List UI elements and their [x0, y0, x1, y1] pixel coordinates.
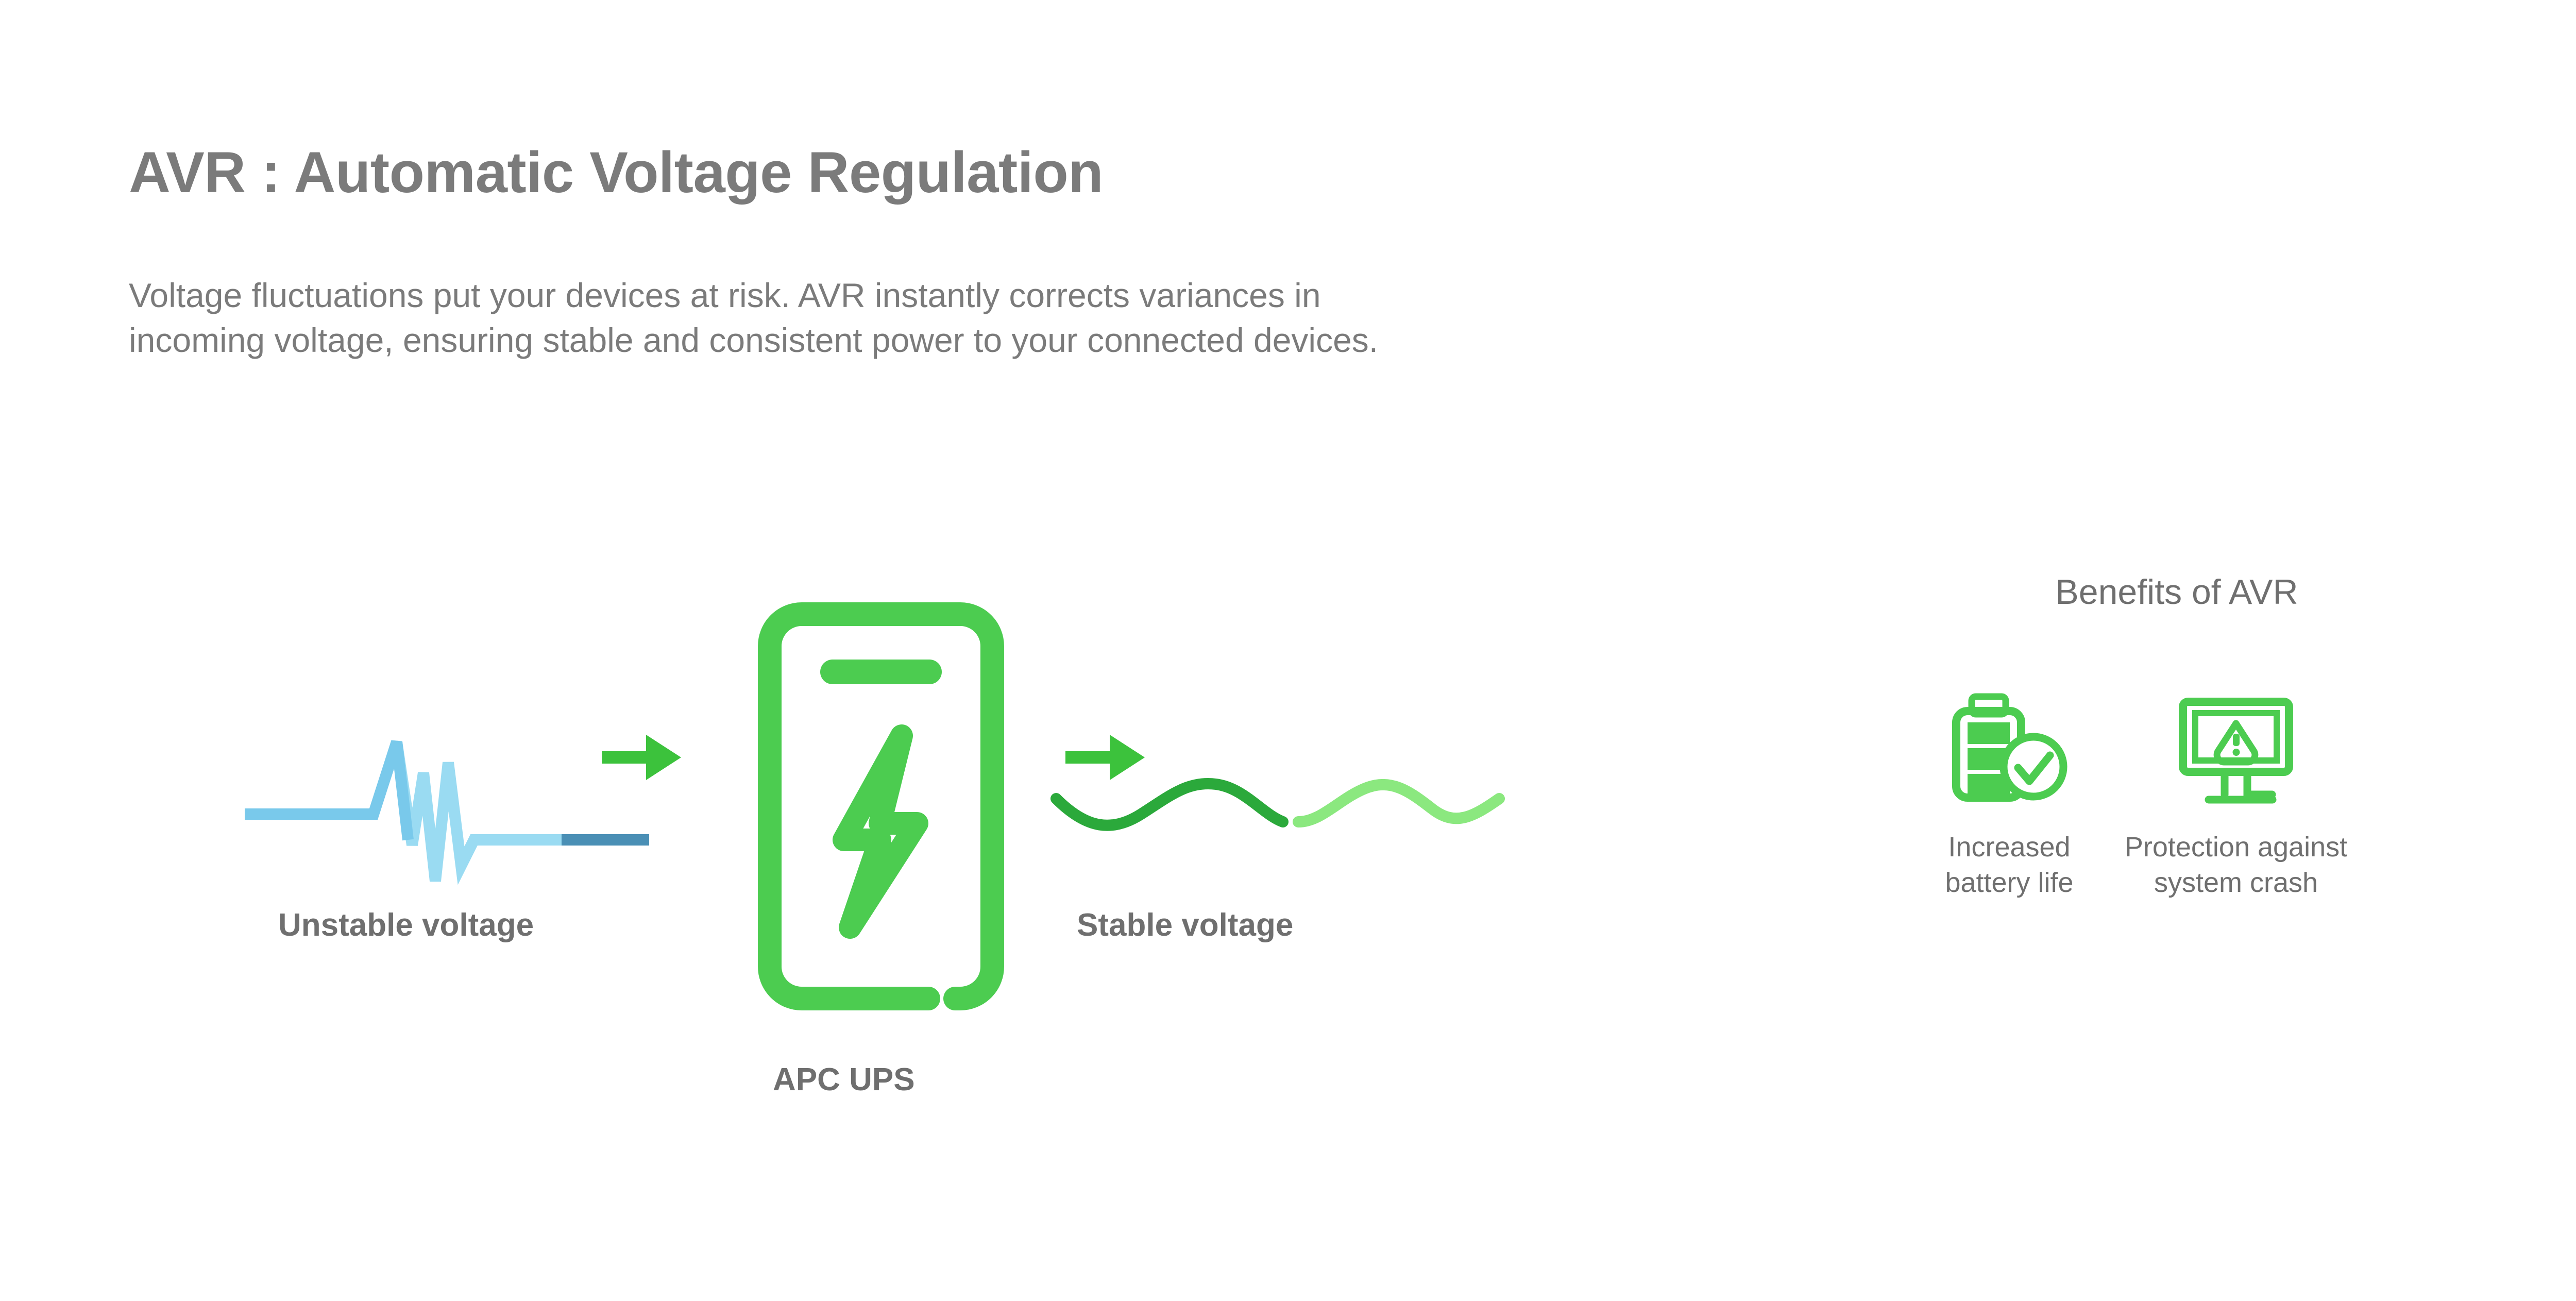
- monitor-warning-icon: [2172, 680, 2300, 814]
- benefit-item-monitor: Protection against system crash: [2112, 680, 2360, 901]
- benefits-section: Benefits of AVR Increased battery life: [1752, 556, 2576, 1072]
- stable-sine-wave-icon: [1041, 726, 1556, 863]
- avr-flow-diagram: Unstable voltage Stable voltage APC UPS: [0, 556, 1597, 1134]
- benefits-title: Benefits of AVR: [1752, 572, 2576, 612]
- unstable-voltage-label: Unstable voltage: [278, 907, 534, 943]
- benefit-label: Protection against system crash: [2125, 830, 2347, 901]
- page-title: AVR : Automatic Voltage Regulation: [129, 139, 1103, 206]
- infographic-canvas: AVR : Automatic Voltage Regulation Volta…: [0, 0, 2576, 1301]
- stable-voltage-label: Stable voltage: [1077, 907, 1293, 943]
- ups-lightning-icon: [747, 598, 1015, 1018]
- apc-ups-label: APC UPS: [773, 1061, 915, 1098]
- page-subtitle: Voltage fluctuations put your devices at…: [129, 273, 1378, 363]
- benefit-label: Increased battery life: [1945, 830, 2073, 901]
- battery-check-icon: [1945, 680, 2074, 814]
- arrow-right-icon: [598, 726, 690, 791]
- unstable-waveform-icon: [242, 711, 582, 930]
- benefit-item-battery: Increased battery life: [1886, 680, 2133, 901]
